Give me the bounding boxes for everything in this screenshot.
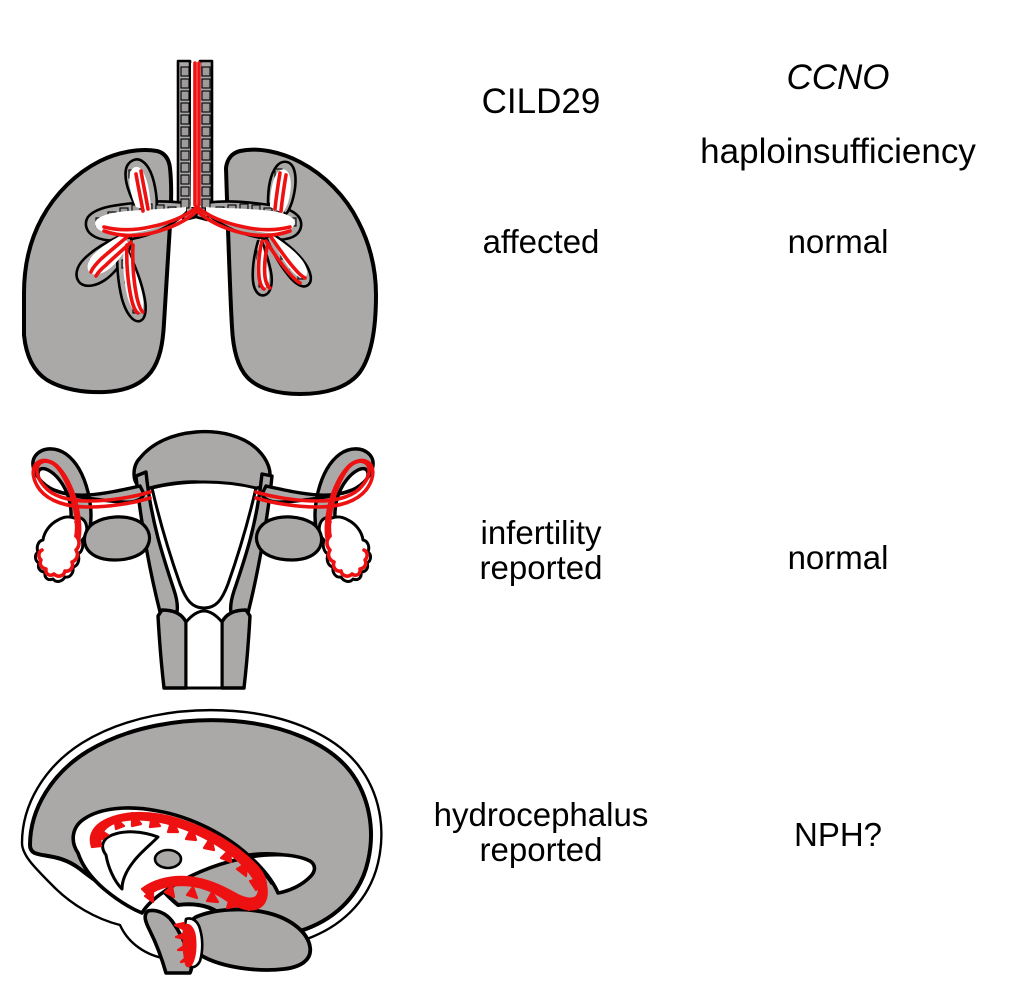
figure-root: CILD29 CCNO haploinsufficiency affected … — [0, 0, 1020, 994]
brain-illustration — [0, 705, 420, 975]
cervix-vagina-right — [222, 610, 250, 688]
lungs-illustration — [0, 55, 420, 405]
cell-uterus-ccno: normal — [666, 541, 1010, 576]
cell-lungs-cild29: affected — [400, 225, 682, 260]
cervical-canal — [186, 611, 222, 688]
column-header-cild29: CILD29 — [400, 46, 682, 157]
cervix-vagina — [158, 610, 186, 688]
cell-uterus-cild29: infertility reported — [400, 516, 682, 586]
uterus-fallopian-tube-cilia-icon — [0, 410, 420, 705]
cell-lungs-ccno: normal — [666, 225, 1010, 260]
cell-brain-ccno: NPH? — [666, 818, 1010, 853]
thalamus-blob — [155, 850, 181, 868]
uterus-body — [134, 432, 270, 489]
column-header-cild29-text: CILD29 — [400, 83, 682, 120]
column-header-ccno-gene: CCNO — [666, 59, 1010, 96]
lungs-airway-cilia-icon — [0, 55, 420, 405]
uterus-illustration — [0, 410, 420, 705]
brain-sagittal-ventricle-ependyma-icon — [0, 705, 420, 975]
column-header-ccno-haploinsufficiency: haploinsufficiency — [666, 133, 1010, 170]
cell-brain-cild29: hydrocephalus reported — [400, 798, 682, 868]
ovary-left — [84, 517, 149, 560]
ovary-right — [257, 517, 322, 560]
column-header-ccno: CCNO haploinsufficiency — [666, 22, 1010, 207]
